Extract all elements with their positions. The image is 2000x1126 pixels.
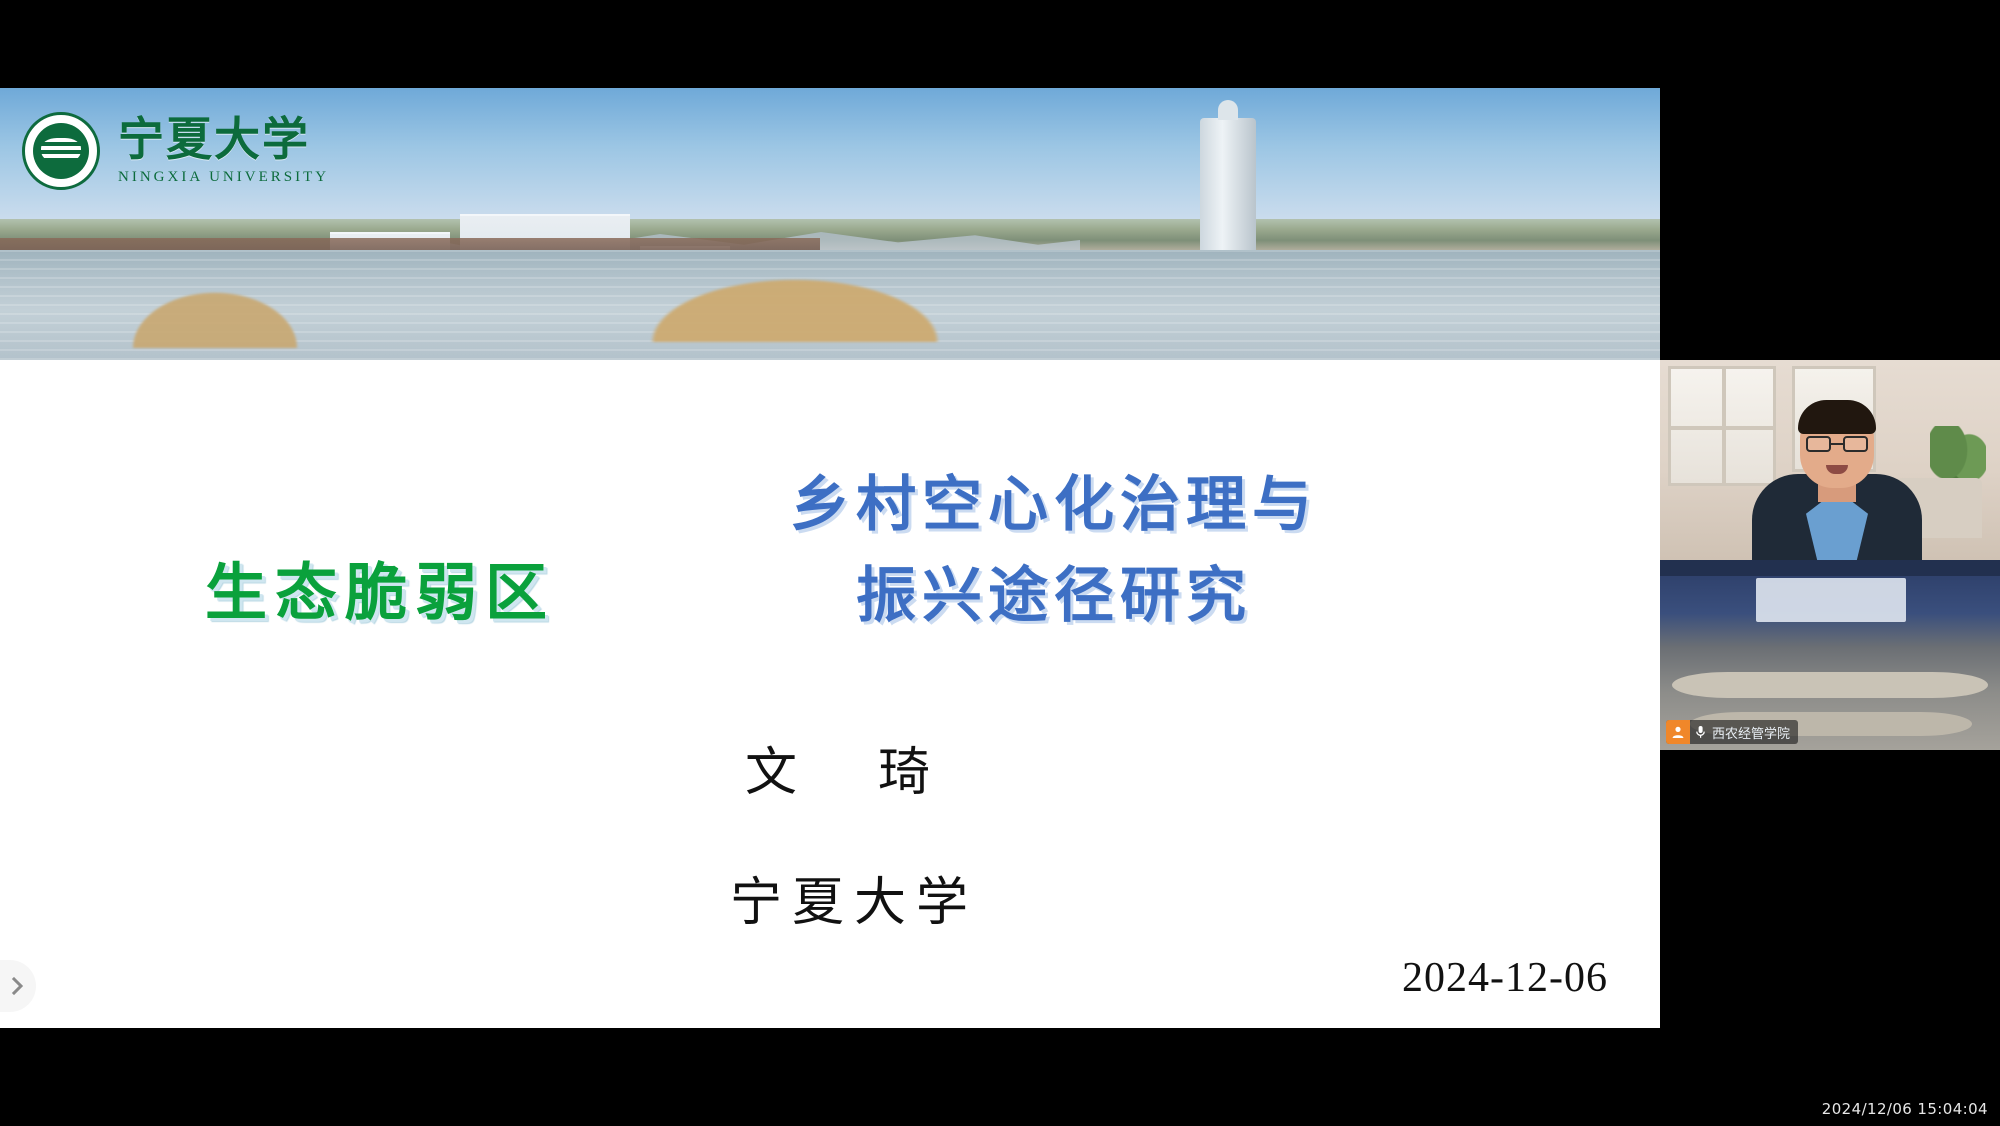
speaker-video-tile[interactable] <box>1660 360 2000 560</box>
speaker-glasses <box>1806 436 1868 452</box>
university-logo-name: 宁夏大学 <box>118 117 329 163</box>
room-video-tile[interactable]: 西农经管学院 <box>1660 560 2000 750</box>
person-avatar-icon <box>1666 720 1690 744</box>
slide-title-blue-line1: 乡村空心化治理与 <box>790 470 1318 540</box>
slide-title-blue-line2: 振兴途径研究 <box>790 551 1318 642</box>
recording-timestamp: 2024/12/06 15:04:04 <box>1822 1100 1988 1118</box>
slide-title-green: 生态脆弱区 <box>205 542 555 632</box>
participant-video-rail: 西农经管学院 <box>1660 360 2000 750</box>
room-ceiling <box>1660 560 2000 576</box>
banner-reeds-left <box>120 284 310 348</box>
participant-name-label: 西农经管学院 <box>1710 723 1798 742</box>
speaker-hair <box>1798 400 1876 434</box>
banner-reeds <box>630 270 960 342</box>
seal-wave-mark <box>41 138 81 164</box>
participant-name-badge: 西农经管学院 <box>1666 720 1798 744</box>
slide-content: 生态脆弱区 乡村空心化治理与 振兴途径研究 文 琦 宁夏大学 2024-12-0… <box>0 360 1660 1028</box>
shared-slide[interactable]: 宁夏大学 NINGXIA UNIVERSITY 生态脆弱区 乡村空心化治理与 振… <box>0 88 1660 1028</box>
slide-title-blue: 乡村空心化治理与 振兴途径研究 <box>790 460 1318 642</box>
university-seal-icon <box>22 112 100 190</box>
room-projector-screen <box>1756 578 1906 622</box>
microphone-icon <box>1690 725 1710 739</box>
chevron-right-icon <box>11 977 25 995</box>
university-logo: 宁夏大学 NINGXIA UNIVERSITY <box>22 112 329 190</box>
university-logo-name-en: NINGXIA UNIVERSITY <box>118 169 329 186</box>
slide-presenter-name: 文 琦 <box>745 730 964 805</box>
meeting-screen-share-view: 宁夏大学 NINGXIA UNIVERSITY 生态脆弱区 乡村空心化治理与 振… <box>0 0 2000 1126</box>
background-window-left <box>1668 366 1776 486</box>
slide-banner-image: 宁夏大学 NINGXIA UNIVERSITY <box>0 88 1660 360</box>
room-desk-front <box>1672 672 1988 698</box>
slide-date: 2024-12-06 <box>1402 954 1608 1002</box>
slide-affiliation: 宁夏大学 <box>730 860 978 935</box>
